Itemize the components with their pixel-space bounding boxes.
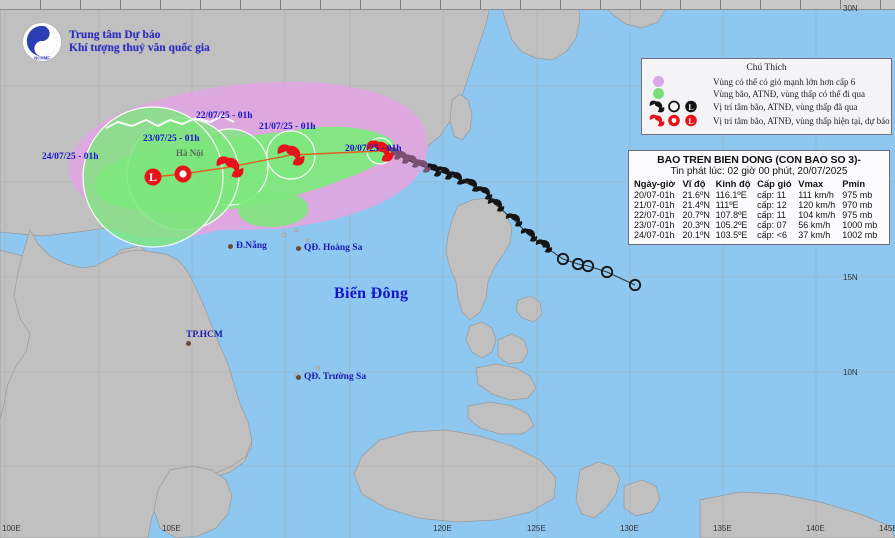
typhoon-forecast-map: 30N 25N 20N 15N 10N 100E 105E 120E 125E … <box>0 0 895 538</box>
legend-panel: Chú Thích Vùng có thể có gió mạnh lớn hơ… <box>641 58 892 135</box>
legend-symbol-green-circle <box>648 88 708 99</box>
storm-info-title: BAO TREN BIEN DONG (CON BAO SO 3)- <box>634 154 884 166</box>
col-pmin: Pmin <box>842 178 884 190</box>
legend-row-track-zone: Vùng bão, ATNĐ, vùng thấp có thể đi qua <box>648 88 885 99</box>
city-label-hanoi: Hà Nội <box>176 148 203 158</box>
legend-row-current-positions: L Vị trí tâm bão, ATNĐ, vùng thấp hiện t… <box>648 114 885 127</box>
table-row: 20/07-01h 21.6ºN 116.1ºE cấp: 11 111 km/… <box>634 190 884 200</box>
storm-info-subtitle: Tin phát lúc: 02 giờ 00 phút, 20/07/2025 <box>634 166 884 177</box>
organization-name: Trung tâm Dự báo Khí tượng thuỷ văn quốc… <box>69 29 210 55</box>
col-windlevel: Cấp gió <box>757 178 798 190</box>
storm-info-panel: BAO TREN BIEN DONG (CON BAO SO 3)- Tin p… <box>628 150 890 245</box>
organization-header: NCHMF Trung tâm Dự báo Khí tượng thuỷ vă… <box>22 22 210 62</box>
nchmf-logo-icon: NCHMF <box>22 22 62 62</box>
marker-22-07 <box>217 156 244 177</box>
marker-24-07: L <box>145 169 162 186</box>
island-dot-truongsa <box>296 375 301 380</box>
table-row: 24/07-01h 20.1ºN 103.5ºE cấp: <6 37 km/h… <box>634 230 884 240</box>
city-dot-danang <box>228 244 233 249</box>
forecast-label-23-07: 23/07/25 - 01h <box>143 134 199 144</box>
table-row: 23/07-01h 20.3ºN 105.2ºE cấp: 07 56 km/h… <box>634 220 884 230</box>
col-datetime: Ngày-giờ <box>634 178 683 190</box>
city-label-tphcm: TP.HCM <box>186 330 223 346</box>
forecast-label-22-07: 22/07/25 - 01h <box>196 111 252 121</box>
col-longitude: Kinh độ <box>716 178 758 190</box>
col-latitude: Vĩ độ <box>683 178 716 190</box>
svg-text:L: L <box>149 170 157 184</box>
city-dot-tphcm <box>186 341 191 346</box>
legend-symbol-red-storm-set: L <box>648 114 708 127</box>
forecast-label-20-07: 20/07/25 - 01h <box>345 144 401 154</box>
svg-text:L: L <box>688 117 693 126</box>
sea-name-label: Biển Đông <box>334 285 408 303</box>
table-row: 22/07-01h 20.7ºN 107.8ºE cấp: 11 104 km/… <box>634 210 884 220</box>
forecast-label-21-07: 21/07/25 - 01h <box>259 122 315 132</box>
island-label-hoangsa: QĐ. Hoàng Sa <box>296 243 362 253</box>
legend-title: Chú Thích <box>648 63 885 73</box>
forecast-table: Ngày-giờ Vĩ độ Kinh độ Cấp gió Vmax Pmin… <box>634 178 884 240</box>
marker-23-07 <box>175 166 192 183</box>
col-vmax: Vmax <box>798 178 842 190</box>
forecast-label-24-07: 24/07/25 - 01h <box>42 152 98 162</box>
logo-abbrev: NCHMF <box>34 55 50 60</box>
legend-symbol-black-storm-set: L <box>648 100 708 113</box>
city-label-danang: Đ.Nẵng <box>228 241 267 251</box>
legend-symbol-purple-circle <box>648 76 708 87</box>
svg-text:L: L <box>688 103 693 112</box>
table-row: 21/07-01h 21.4ºN 111ºE cấp: 12 120 km/h … <box>634 200 884 210</box>
island-dot-hoangsa <box>296 246 301 251</box>
table-header-row: Ngày-giờ Vĩ độ Kinh độ Cấp gió Vmax Pmin <box>634 178 884 190</box>
legend-row-gale-zone: Vùng có thể có gió mạnh lớn hơn cấp 6 <box>648 76 885 87</box>
marker-21-07 <box>278 144 305 165</box>
legend-row-past-positions: L Vị trí tâm bão, ATNĐ, vùng thấp đã qua <box>648 100 885 113</box>
island-label-truongsa: QĐ. Trường Sa <box>296 372 366 382</box>
